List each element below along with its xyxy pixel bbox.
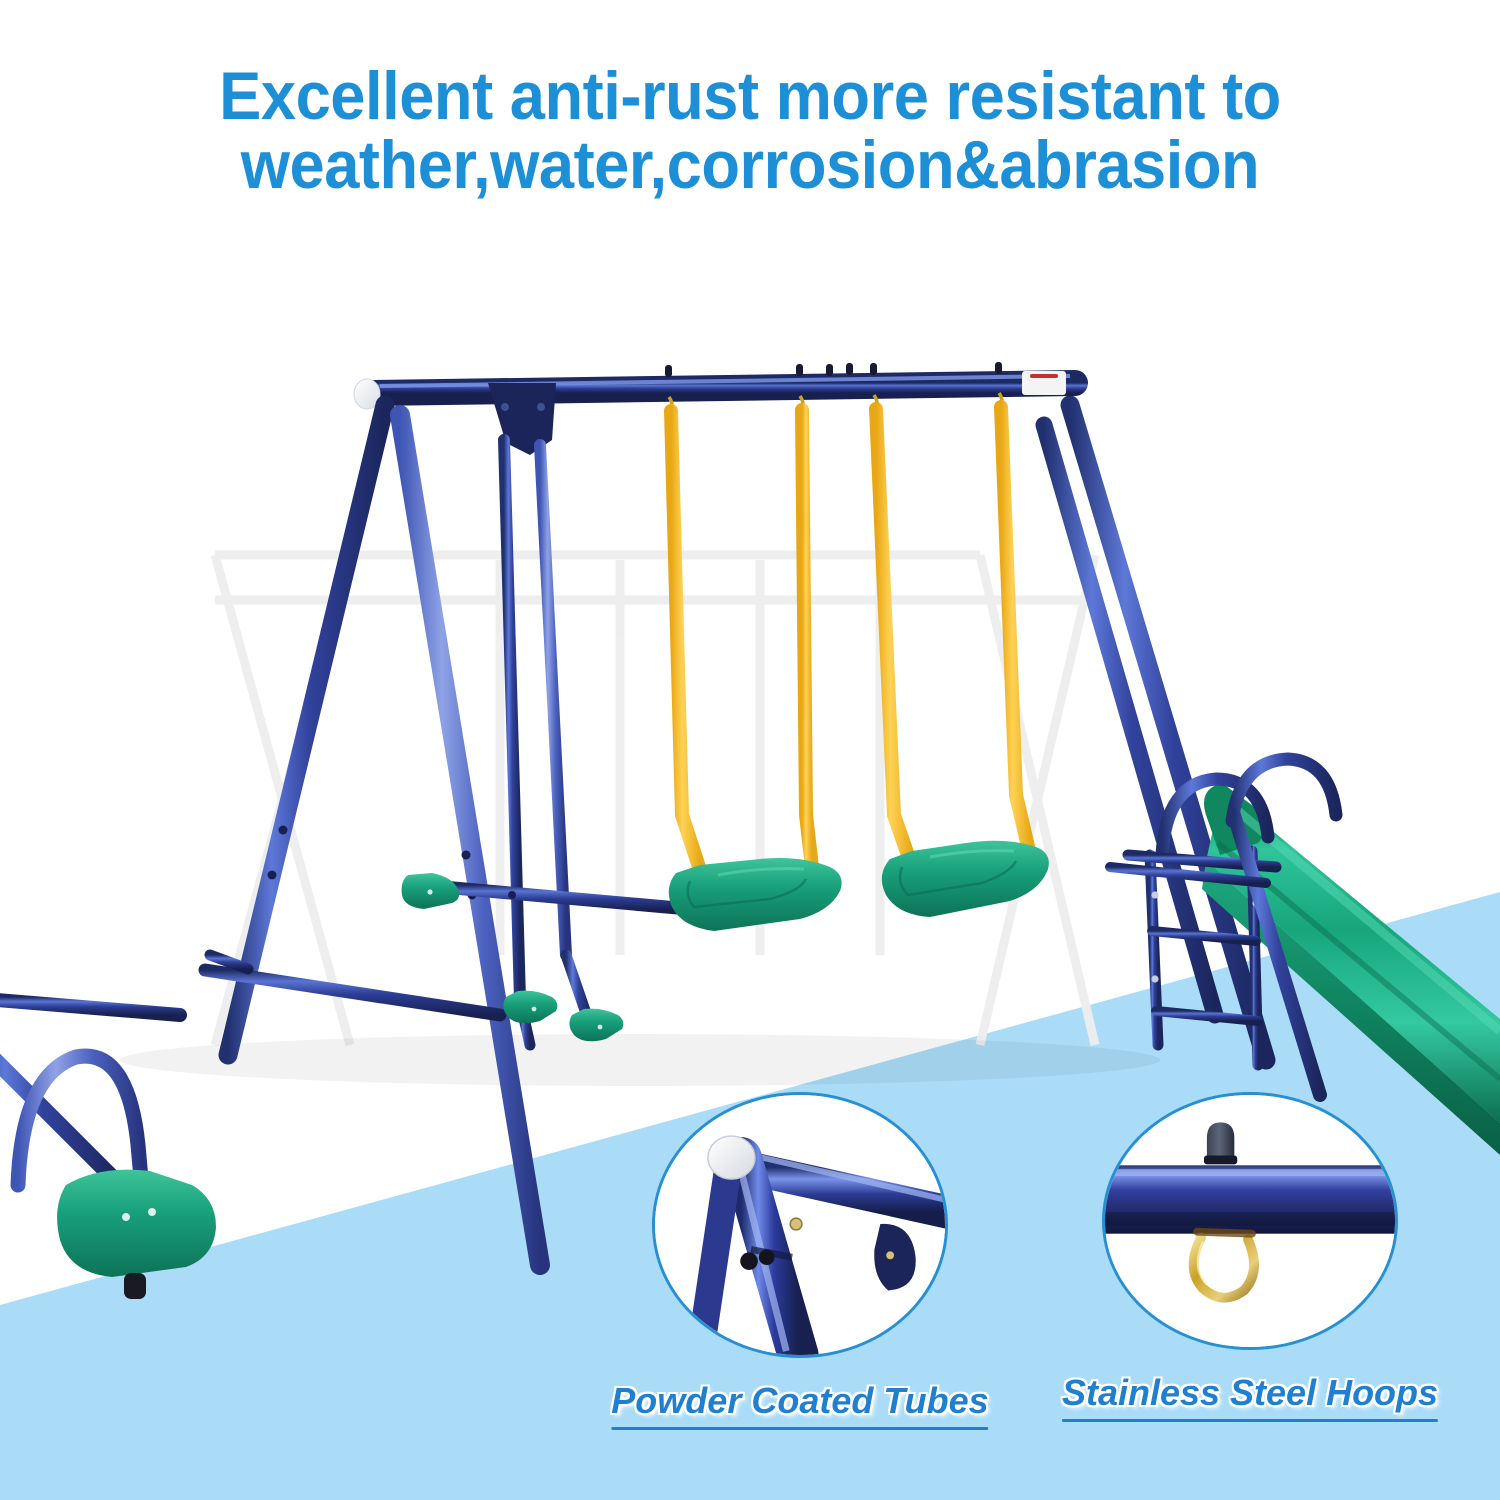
swing-seat-1 [669, 858, 842, 931]
product-feature-image: Excellent anti-rust more resistant to we… [0, 0, 1500, 1500]
detail-circle-1 [652, 1092, 948, 1358]
glider-seat-left [402, 873, 460, 909]
watermark-ghost [215, 555, 1095, 1045]
caption-underline [611, 1427, 988, 1430]
headline-line-2: weather,water,corrosion&abrasion [53, 131, 1448, 200]
detail-circle-2 [1102, 1092, 1398, 1350]
detail-powder-coated-tubes: Powder Coated Tubes [652, 1092, 948, 1358]
detail-1-photo [655, 1095, 945, 1355]
detail-1-caption: Powder Coated Tubes [611, 1380, 988, 1436]
caption-underline [1062, 1419, 1438, 1422]
glider-footrest-a [503, 991, 557, 1024]
headline-line-1: Excellent anti-rust more resistant to [53, 62, 1448, 131]
bolt-cap-icon [1204, 1122, 1237, 1164]
white-end-cap-icon [708, 1136, 755, 1179]
top-rail [354, 371, 1075, 409]
frame-left-legs [205, 405, 540, 1265]
swing-straps [671, 407, 1030, 870]
detail-2-caption: Stainless Steel Hoops [1062, 1372, 1438, 1428]
saddle-seat-assembly [0, 997, 216, 1299]
headline: Excellent anti-rust more resistant to we… [53, 62, 1448, 201]
detail-2-photo [1105, 1095, 1395, 1347]
detail-stainless-steel-hoops: Stainless Steel Hoops [1102, 1092, 1398, 1350]
